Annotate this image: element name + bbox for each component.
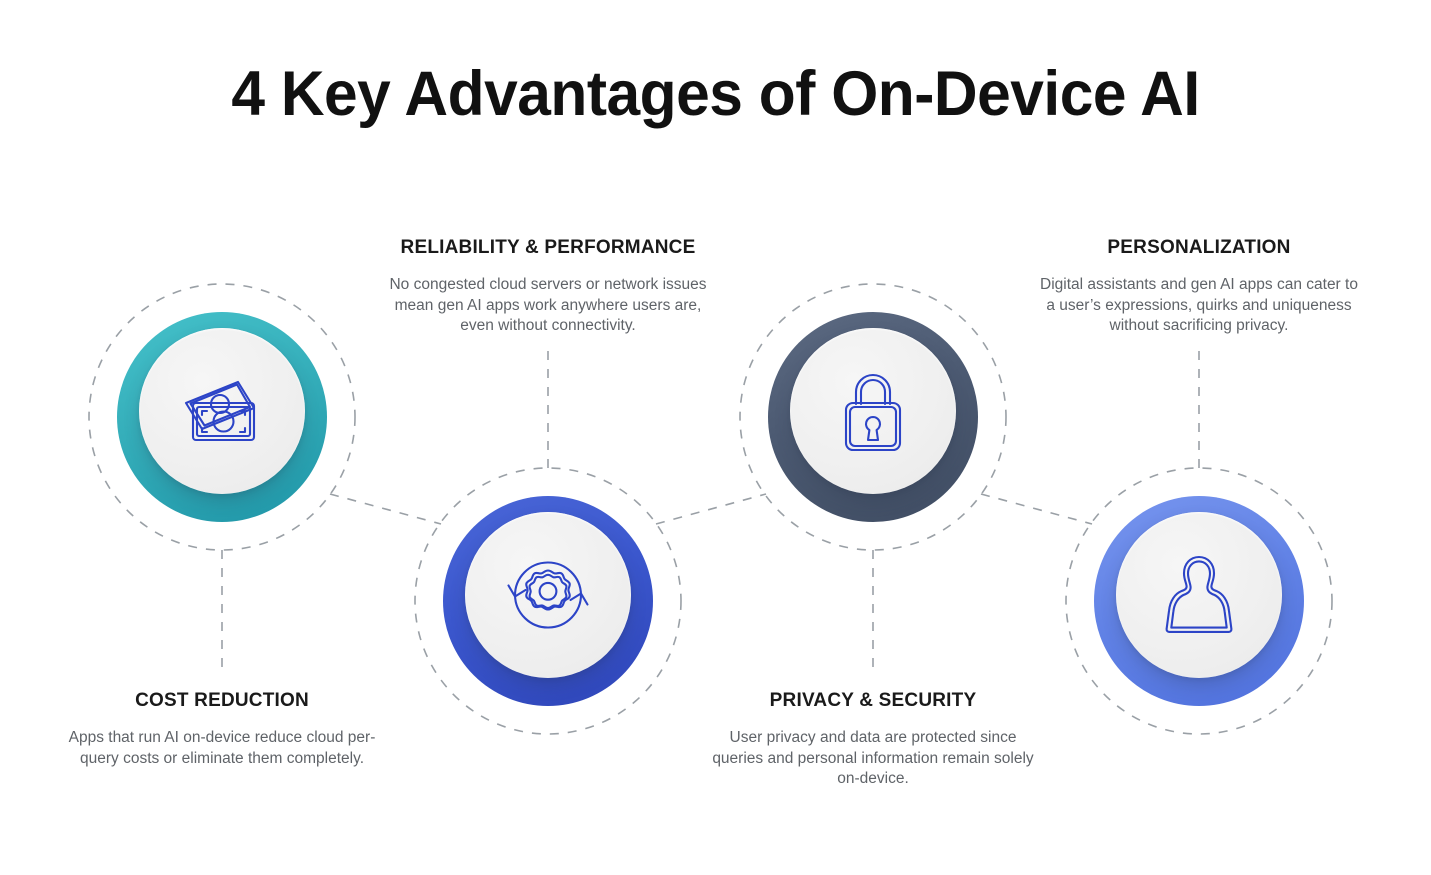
icon-plate-personalization: [1116, 512, 1282, 678]
connector-3-4: [981, 494, 1092, 524]
icon-plate-cost-reduction: [139, 328, 305, 494]
heading-privacy-security: PRIVACY & SECURITY: [708, 690, 1038, 712]
label-block-personalization: PERSONALIZATION Digital assistants and g…: [1034, 237, 1364, 337]
page-title: 4 Key Advantages of On-Device AI: [29, 58, 1403, 130]
icon-plate-reliability-performance: [465, 512, 631, 678]
node-reliability-performance[interactable]: [443, 496, 653, 706]
money-icon: [174, 373, 270, 449]
infographic-canvas: 4 Key Advantages of On-Device AI: [0, 0, 1431, 875]
body-personalization: Digital assistants and gen AI apps can c…: [1034, 275, 1364, 337]
heading-personalization: PERSONALIZATION: [1034, 237, 1364, 259]
gear-refresh-icon: [499, 546, 597, 644]
person-icon: [1161, 549, 1237, 641]
node-privacy-security[interactable]: [768, 312, 978, 522]
heading-reliability-performance: RELIABILITY & PERFORMANCE: [383, 237, 713, 259]
label-block-reliability-performance: RELIABILITY & PERFORMANCE No congested c…: [383, 237, 713, 337]
heading-cost-reduction: COST REDUCTION: [57, 690, 387, 712]
label-block-privacy-security: PRIVACY & SECURITY User privacy and data…: [708, 690, 1038, 790]
body-reliability-performance: No congested cloud servers or network is…: [383, 275, 713, 337]
label-block-cost-reduction: COST REDUCTION Apps that run AI on-devic…: [57, 690, 387, 769]
lock-icon: [834, 365, 912, 457]
body-privacy-security: User privacy and data are protected sinc…: [708, 728, 1038, 790]
node-personalization[interactable]: [1094, 496, 1304, 706]
node-cost-reduction[interactable]: [117, 312, 327, 522]
connector-2-3: [656, 494, 766, 524]
icon-plate-privacy-security: [790, 328, 956, 494]
body-cost-reduction: Apps that run AI on-device reduce cloud …: [57, 728, 387, 769]
connector-1-2: [330, 494, 441, 524]
